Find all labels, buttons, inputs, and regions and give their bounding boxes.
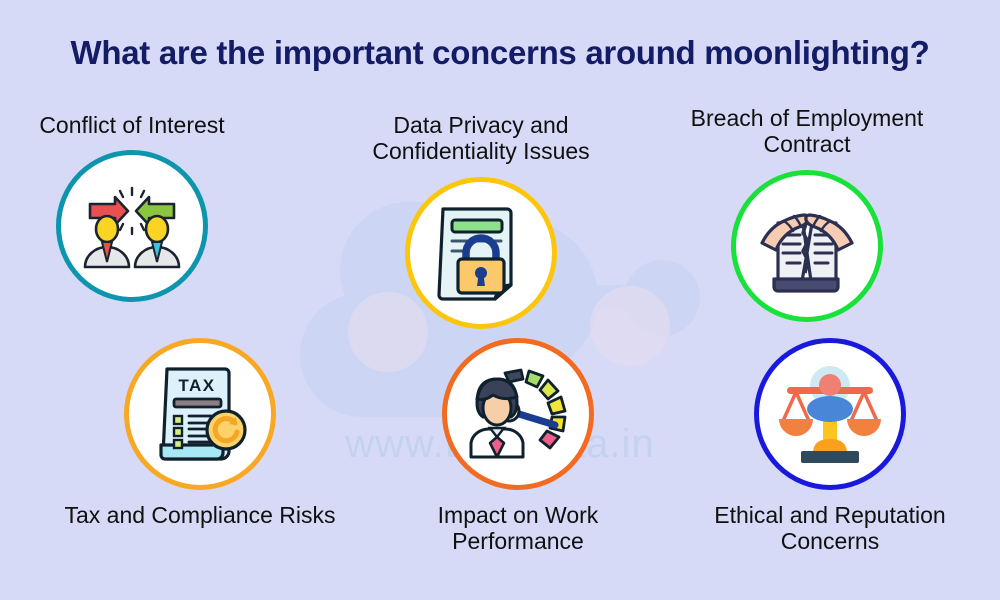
- balance-scales-person-icon: [775, 359, 885, 469]
- concern-card-work-performance: Impact on Work Performance: [368, 338, 668, 555]
- concern-label: Ethical and Reputation Concerns: [680, 502, 980, 555]
- concern-card-data-privacy: Data Privacy and Confidentiality Issues: [331, 112, 631, 329]
- concern-icon-circle: [442, 338, 594, 490]
- concern-card-conflict-of-interest: Conflict of Interest: [0, 112, 282, 302]
- employee-performance-gauge-icon: [463, 359, 573, 469]
- two-people-opposing-arrows-icon: [76, 170, 188, 282]
- concern-label: Breach of Employment Contract: [657, 105, 957, 158]
- concern-icon-circle: [405, 177, 557, 329]
- concern-card-ethical-reputation: Ethical and Reputation Concerns: [680, 338, 980, 555]
- concern-card-breach-of-contract: Breach of Employment Contract: [657, 105, 957, 322]
- concern-icon-circle: [56, 150, 208, 302]
- concern-label: Impact on Work Performance: [368, 502, 668, 555]
- concern-label: Tax and Compliance Risks: [50, 502, 350, 528]
- svg-text:TAX: TAX: [178, 376, 215, 395]
- concern-card-tax-compliance: TAX Tax and Compliance Risks: [50, 338, 350, 528]
- concern-icon-circle: TAX: [124, 338, 276, 490]
- concern-icon-circle: [754, 338, 906, 490]
- concern-label: Conflict of Interest: [0, 112, 282, 138]
- document-padlock-icon: [429, 201, 533, 305]
- hands-tearing-document-icon: [754, 193, 860, 299]
- page-title: What are the important concerns around m…: [0, 34, 1000, 72]
- tax-form-refresh-icon: TAX: [147, 361, 253, 467]
- concern-label: Data Privacy and Confidentiality Issues: [331, 112, 631, 165]
- concern-icon-circle: [731, 170, 883, 322]
